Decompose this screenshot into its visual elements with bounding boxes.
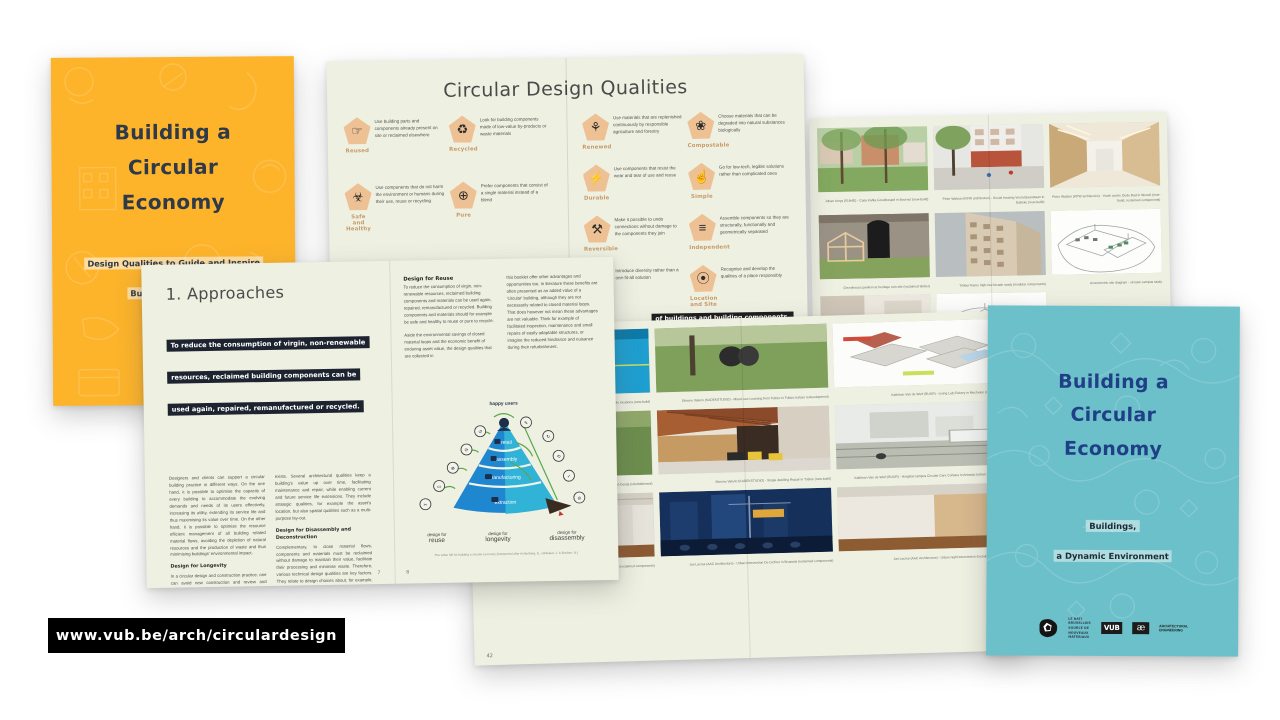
photo-cell[interactable]: Johan Anrys (51N4E) - Casa Kafka Grootho…: [817, 126, 929, 209]
page-heading: 1. Approaches: [166, 281, 368, 304]
photo-caption: Kathleen Van de Werf (BUUR) - Living Lab…: [835, 390, 1008, 400]
reuse-column-one: Design for Reuse To reduce the consumpti…: [403, 275, 496, 366]
approaches-page-left: 1. Approaches To reduce the consumption …: [141, 261, 394, 588]
hand-component-icon: ☞: [343, 117, 370, 144]
page-number: 8: [406, 570, 409, 576]
photo-cell[interactable]: Peter Watson (KPW architecten) - Youth c…: [1049, 122, 1161, 205]
cover-teal-title: Building a Circular Economy: [987, 365, 1240, 466]
body-paragraph: this booklet offer other advantages and …: [506, 273, 598, 351]
lead-callout: To reduce the consumption of virgin, non…: [166, 324, 369, 424]
photo-caption: Johan Anrys (51N4E) - Casa Kafka Grootho…: [818, 197, 928, 204]
lead-callout-text: To reduce the consumption of virgin, non…: [167, 336, 370, 416]
ae-logo-mark: æ: [1133, 622, 1150, 634]
body-paragraph: In a circular design and construction pr…: [171, 572, 267, 588]
svg-text:⊘: ⊘: [577, 496, 581, 501]
cover-title-line: Circular: [987, 399, 1239, 434]
safe-healthy-icon: ☣: [344, 183, 371, 210]
page-number: 7: [378, 570, 381, 576]
svg-text:▭: ▭: [437, 485, 441, 490]
quality-item-independent[interactable]: ≡ Independent Assemble components so the…: [687, 212, 793, 265]
purity-gauge-icon: ⊕: [450, 181, 477, 208]
cover-title-line: Circular: [51, 149, 294, 186]
cover-subtitle-line: a Dynamic Environment: [1053, 550, 1171, 563]
diagram-livinglab-axonometric: [833, 319, 1007, 388]
cone-legend-longevity: design for longevity: [485, 531, 510, 543]
cone-legend-reuse: design for reuse: [427, 532, 447, 544]
cover-teal-subtitle: Buildings, a Dynamic Environment: [995, 509, 1231, 571]
body-subheading: Design for Disassembly and Deconstructio…: [276, 527, 372, 543]
cover-title-line: Economy: [987, 432, 1239, 467]
reuse-column-two: this booklet offer other advantages and …: [506, 273, 599, 364]
vub-logo: VUB: [1101, 622, 1123, 634]
value-hill-cone-diagram[interactable]: happy users extraction manufacturing ass…: [391, 400, 618, 558]
quality-item-durable[interactable]: ⚡ Durable Use components that resist the…: [581, 163, 687, 216]
quality-item-safe-healthy[interactable]: ☣ Safe and Healthy Use components that d…: [342, 182, 448, 262]
screenshot-stage: % Building a Circular Economy Design Qua…: [0, 0, 1280, 720]
cover-yellow-title: Building a Circular Economy: [51, 114, 295, 221]
cone-legend-disassembly: design for disassembly: [549, 529, 584, 542]
cover-subtitle-line: Buildings,: [1086, 520, 1139, 532]
diagram-axonometric-site: [1051, 208, 1162, 274]
muscle-arm-icon: ⚡: [583, 164, 610, 191]
photo-cell[interactable]: Axonometric site diagram - circular camp…: [1051, 208, 1162, 286]
photo-office-corridor-glass: [837, 482, 1011, 551]
cone-layer-retail: retail: [501, 440, 512, 446]
booklet-cover-teal[interactable]: Building a Circular Economy Buildings, a…: [986, 305, 1240, 656]
diagram-caption: The value fall for building a circular e…: [394, 550, 618, 558]
layers-icon: ≡: [689, 214, 716, 241]
body-subheading: Design for Longevity: [170, 563, 266, 572]
map-pin-icon: ⦿: [690, 265, 717, 292]
svg-text:✂: ✂: [423, 503, 427, 508]
photo-caption: Axonometric site diagram - circular camp…: [1052, 279, 1162, 286]
quality-item-renewed[interactable]: ⚘ Renewed Use materials that are repleni…: [580, 112, 686, 165]
compost-cycle-icon: ❀: [687, 112, 714, 139]
render-urban-tram-street: [835, 400, 1009, 469]
svg-text:✓: ✓: [567, 475, 571, 480]
website-url-banner[interactable]: www.vub.be/arch/circulardesign: [48, 618, 345, 653]
photo-cell[interactable]: Kathleen Van de Werf (BUUR) - Hospital c…: [835, 400, 1010, 481]
svg-text:✎: ✎: [524, 420, 528, 426]
photo-cell[interactable]: Kathleen Van de Werf (BUUR) - Living Lab…: [833, 319, 1008, 400]
body-subheading: Design for Reuse: [403, 275, 494, 283]
photo-caption: Kathleen Van de Werf (BUUR) - Hospital c…: [837, 471, 1010, 481]
photo-cell[interactable]: Greenhouse pavilion at heritage ruin sit…: [819, 213, 930, 291]
svg-text:↻: ↻: [546, 435, 550, 440]
quality-item-simple[interactable]: ☝ Simple Go for low-tech, legible soluti…: [686, 161, 792, 214]
cone-layer-manufacturing: manufacturing: [489, 475, 521, 482]
body-paragraph: To reduce the consumption of virgin, non…: [403, 283, 495, 326]
cone-graphic: extraction manufacturing assembly retail: [406, 407, 604, 528]
body-column-two: exists. Several architectural qualities …: [275, 472, 373, 588]
quality-item-compostable[interactable]: ❀ Compostable Choose materials that can …: [685, 110, 791, 163]
cover-teal-logo-row: LE BATI BRUXELLOIS SOURCE DE NOUVEAUX MA…: [986, 616, 1238, 641]
body-column-one: Designers and clients can support a circ…: [169, 474, 267, 588]
cover-title-line: Economy: [52, 184, 295, 221]
svg-text:⟲: ⟲: [557, 455, 561, 460]
cone-legend: design for reuse design for longevity de…: [394, 529, 618, 545]
sprout-hand-icon: ⚘: [582, 113, 609, 140]
body-paragraph: Aside the environmental savings of close…: [404, 331, 496, 360]
quality-item-pure[interactable]: ⊕ Pure Prefer components that consist of…: [448, 180, 554, 260]
bbsm-blob-logo-icon: [1036, 617, 1058, 639]
photo-caption: Greenhouse pavilion at heritage ruin sit…: [820, 284, 930, 291]
ae-logo-label: ARCHITECTURAL ENGINEERING: [1159, 624, 1188, 634]
photo-housing-green-slope: [817, 126, 928, 192]
approaches-page-right: Design for Reuse To reduce the consumpti…: [389, 257, 619, 584]
svg-text:↺: ↺: [478, 430, 482, 435]
hand-tap-icon: ☝: [688, 163, 715, 190]
photo-greenhouse-ruin: [819, 213, 930, 279]
tools-cross-icon: ⚒: [583, 215, 610, 242]
website-url-text: www.vub.be/arch/circulardesign: [56, 628, 337, 644]
page-number-left: 42: [487, 653, 494, 659]
cover-teal-doodle-pattern: [986, 305, 1240, 656]
photo-caption: Peter Watson (KPW architecten) - Youth c…: [1050, 193, 1160, 205]
cover-title-line: Building a: [51, 114, 294, 151]
svg-text:⟳: ⟳: [464, 448, 468, 453]
photo-timber-corridor: [1049, 122, 1160, 188]
quality-item-reused[interactable]: ☞ Reused Use building parts and componen…: [341, 116, 447, 184]
approaches-spread[interactable]: 1. Approaches To reduce the consumption …: [141, 257, 619, 588]
body-paragraph: Complementary, to close material flows, …: [276, 543, 373, 588]
recycle-icon: ♻: [449, 115, 476, 142]
svg-text:⊗: ⊗: [451, 467, 455, 472]
bbsm-logo-label: LE BATI BRUXELLOIS SOURCE DE NOUVEAUX MA…: [1068, 617, 1091, 640]
body-paragraph: Designers and clients can support a circ…: [169, 474, 266, 559]
body-paragraph: exists. Several architectural qualities …: [275, 472, 372, 522]
quality-item-recycled[interactable]: ♻ Recycled Look for building components …: [447, 114, 553, 182]
cone-layer-assembly: assembly: [496, 457, 518, 463]
cover-title-line: Building a: [987, 365, 1239, 400]
